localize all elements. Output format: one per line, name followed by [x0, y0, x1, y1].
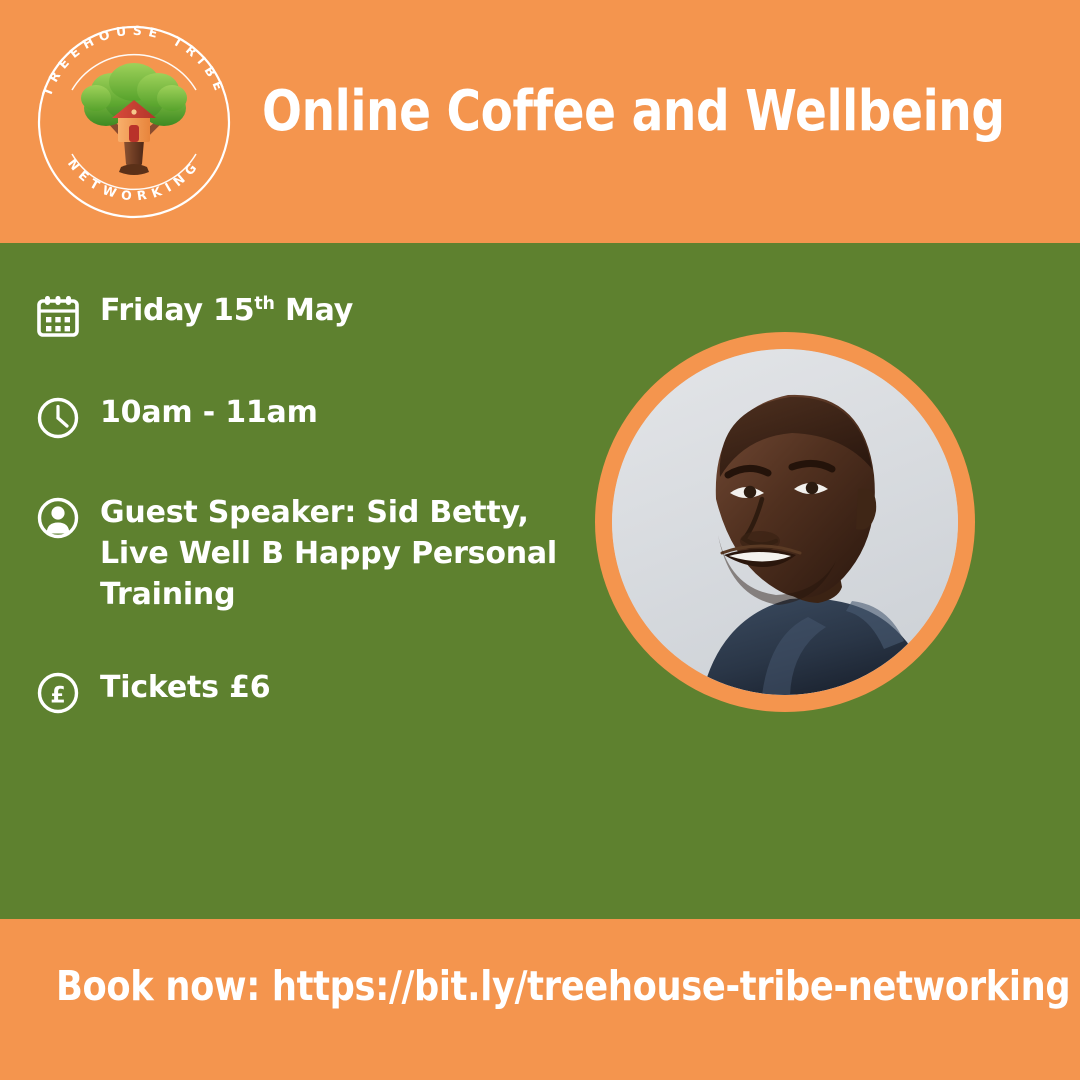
pound-icon: £ — [34, 669, 82, 717]
detail-row-price: £ Tickets £6 — [34, 665, 574, 717]
page-title: Online Coffee and Wellbeing — [262, 83, 926, 142]
detail-price-text: Tickets £6 — [100, 665, 270, 709]
treehouse-tribe-logo: TREEHOUSE TRIBE NETWORKING — [34, 12, 234, 222]
detail-date-ordinal: th — [254, 294, 274, 314]
detail-time-text: 10am - 11am — [100, 390, 318, 434]
detail-row-time: 10am - 11am — [34, 390, 574, 442]
treehouse-illustration — [81, 63, 187, 175]
booking-link[interactable]: Book now: https://bit.ly/treehouse-tribe… — [56, 962, 899, 1010]
detail-date-suffix: May — [275, 293, 353, 328]
detail-speaker-line-1: Guest Speaker: Sid Betty, — [100, 495, 529, 530]
detail-speaker-line-2: Live Well B Happy Personal — [100, 536, 557, 571]
detail-speaker-line-3: Training — [100, 577, 235, 612]
detail-date-text: Friday 15th May — [100, 288, 353, 332]
event-poster: TREEHOUSE TRIBE NETWORKING — [0, 0, 1080, 1080]
clock-icon — [34, 394, 82, 442]
person-icon — [34, 494, 82, 542]
event-details-list: Friday 15th May 10am - 11am — [34, 288, 574, 759]
calendar-icon — [34, 292, 82, 340]
detail-date-prefix: Friday 15 — [100, 293, 254, 328]
speaker-photo — [612, 349, 958, 695]
speaker-portrait — [595, 332, 975, 712]
detail-speaker-text: Guest Speaker: Sid Betty, Live Well B Ha… — [100, 490, 570, 615]
detail-row-speaker: Guest Speaker: Sid Betty, Live Well B Ha… — [34, 490, 574, 615]
svg-text:£: £ — [50, 684, 65, 709]
detail-row-date: Friday 15th May — [34, 288, 574, 340]
